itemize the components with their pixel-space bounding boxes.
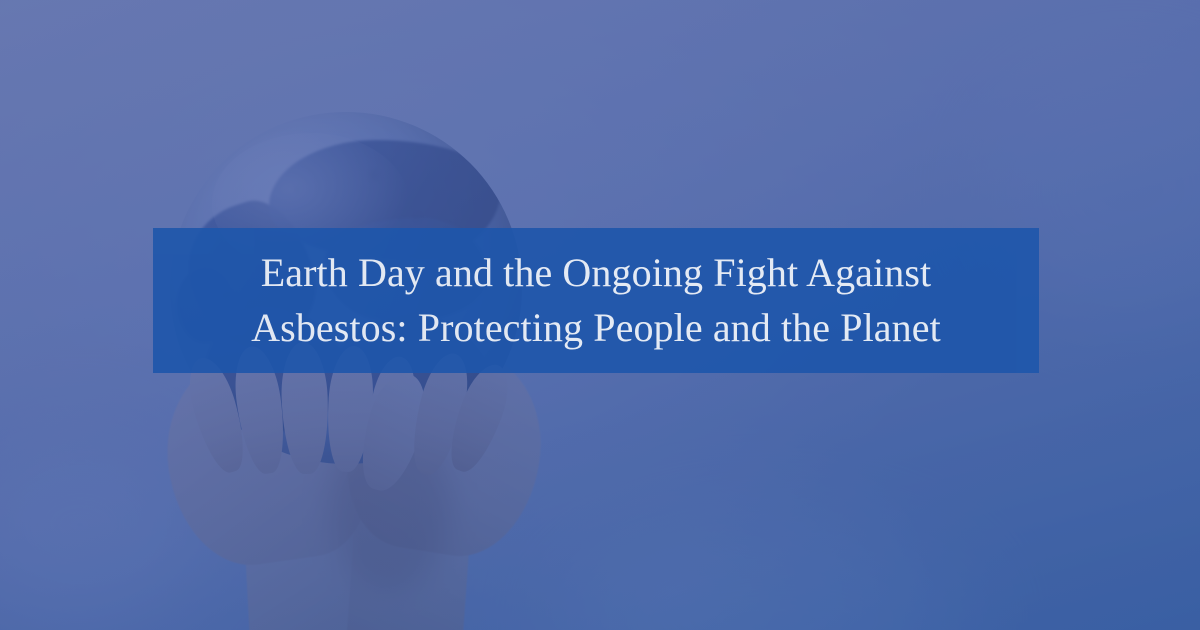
title-banner: Earth Day and the Ongoing Fight Against …: [153, 228, 1039, 373]
page-title-line-1: Earth Day and the Ongoing Fight Against: [161, 246, 1031, 301]
hero-banner-image: Earth Day and the Ongoing Fight Against …: [0, 0, 1200, 630]
page-title-line-2: Asbestos: Protecting People and the Plan…: [161, 301, 1031, 356]
page-title: Earth Day and the Ongoing Fight Against …: [153, 246, 1039, 356]
